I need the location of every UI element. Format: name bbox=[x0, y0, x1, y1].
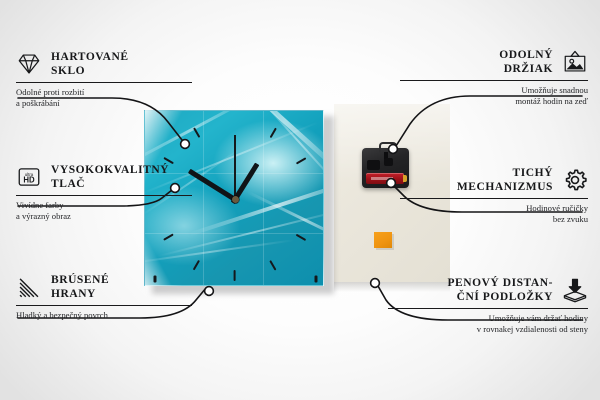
feature-divider bbox=[16, 82, 192, 83]
feature-description: Umožňuje vám držať hodiny v rovnakej vzd… bbox=[388, 313, 588, 336]
feature-divider bbox=[400, 80, 588, 81]
feature-description: Hodinové ručičky bez zvuku bbox=[400, 203, 588, 226]
feature-title-line2: ČNÍ PODLOŽKY bbox=[447, 290, 553, 304]
feature-title-line2: SKLO bbox=[51, 64, 129, 78]
brushed-edges-icon bbox=[16, 274, 42, 300]
feature-tempered-glass: HARTOVANÉ SKLO Odolné proti rozbití a po… bbox=[16, 50, 192, 110]
feature-description: Vivídne farby a výrazný obraz bbox=[16, 200, 192, 223]
feature-title-line1: TICHÝ bbox=[457, 166, 553, 180]
feature-brushed-edges: BRÚSENÉ HRANY Hladký a bezpečný povrch bbox=[16, 273, 192, 321]
feature-description: Hladký a bezpečný povrch bbox=[16, 310, 192, 321]
ultra-hd-icon-large-text: HD bbox=[23, 176, 35, 185]
infographic-canvas: HARTOVANÉ SKLO Odolné proti rozbití a po… bbox=[0, 0, 600, 400]
feature-divider bbox=[400, 198, 588, 199]
feature-divider bbox=[16, 305, 192, 306]
feature-title-line2: DRŽIAK bbox=[499, 62, 553, 76]
battery bbox=[366, 173, 404, 184]
second-hand bbox=[234, 135, 236, 201]
feature-foam-spacers: PENOVÝ DISTAN- ČNÍ PODLOŽKY Umožňuje vám… bbox=[388, 276, 588, 336]
feature-silent-mechanism: TICHÝ MECHANIZMUS Hodinové ručičky bez z… bbox=[400, 166, 588, 226]
feature-title-line1: BRÚSENÉ bbox=[51, 273, 109, 287]
feature-title-line1: PENOVÝ DISTAN- bbox=[447, 276, 553, 290]
feature-description: Umožňuje snadnou montáž hodin na zeď bbox=[400, 85, 588, 108]
foam-spacer-icon bbox=[562, 277, 588, 303]
mechanism-hook bbox=[379, 142, 397, 152]
feature-divider bbox=[388, 308, 588, 309]
feature-title-line1: VYSOKOKVALITNÝ bbox=[51, 163, 169, 177]
hand-cap bbox=[232, 196, 239, 203]
gear-icon bbox=[562, 167, 588, 193]
feature-title-line1: HARTOVANÉ bbox=[51, 50, 129, 64]
ultra-hd-icon: ultra HD bbox=[16, 164, 42, 190]
feature-description: Odolné proti rozbití a poškrábání bbox=[16, 87, 192, 110]
feature-durable-holder: ODOLNÝ DRŽIAK Umožňuje snadnou montáž ho… bbox=[400, 48, 588, 108]
feature-hd-print: ultra HD VYSOKOKVALITNÝ TLAČ Vivídne far… bbox=[16, 163, 192, 223]
diamond-icon bbox=[16, 51, 42, 77]
feature-title-line2: TLAČ bbox=[51, 177, 169, 191]
picture-frame-hanger-icon bbox=[562, 49, 588, 75]
feature-title-line1: ODOLNÝ bbox=[499, 48, 553, 62]
foam-spacer-pad bbox=[374, 232, 392, 248]
feature-divider bbox=[16, 195, 192, 196]
feature-title-line2: HRANY bbox=[51, 287, 109, 301]
feature-title-line2: MECHANIZMUS bbox=[457, 180, 553, 194]
